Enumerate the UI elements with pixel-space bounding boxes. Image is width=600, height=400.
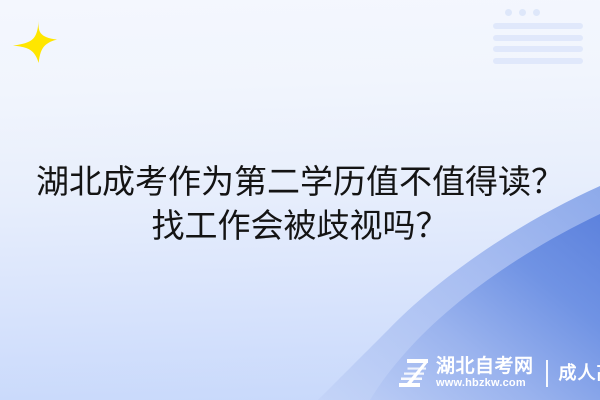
page-title-line-1: 湖北成考作为第二学历值不值得读？ (0, 160, 600, 204)
doc-dot (533, 9, 540, 16)
logo-divider (546, 360, 548, 387)
doc-dot (519, 9, 526, 16)
brand-wordmark: 湖北自考网 www.hbzkw.com (436, 357, 534, 390)
doc-bar (493, 35, 583, 41)
hbzkw-z-mark-icon (398, 358, 429, 388)
brand-name-cn: 湖北自考网 (436, 357, 534, 377)
brand-logo: 湖北自考网 www.hbzkw.com 成人高考 (398, 355, 600, 391)
brand-tagline: 成人高考 (559, 363, 600, 383)
doc-bar (493, 58, 583, 64)
brand-url: www.hbzkw.com (436, 377, 534, 390)
document-placeholder (493, 9, 583, 61)
poster-canvas: 湖北成考作为第二学历值不值得读？ 找工作会被歧视吗？ 湖北自考网 www.hbz… (0, 0, 600, 400)
page-title: 湖北成考作为第二学历值不值得读？ 找工作会被歧视吗？ (0, 160, 600, 248)
doc-dot (505, 9, 512, 16)
doc-bar (493, 46, 583, 52)
page-title-line-2: 找工作会被歧视吗？ (0, 204, 600, 248)
doc-dots-group (505, 9, 583, 16)
sparkle-star-icon (11, 17, 59, 65)
doc-bar (493, 23, 583, 29)
